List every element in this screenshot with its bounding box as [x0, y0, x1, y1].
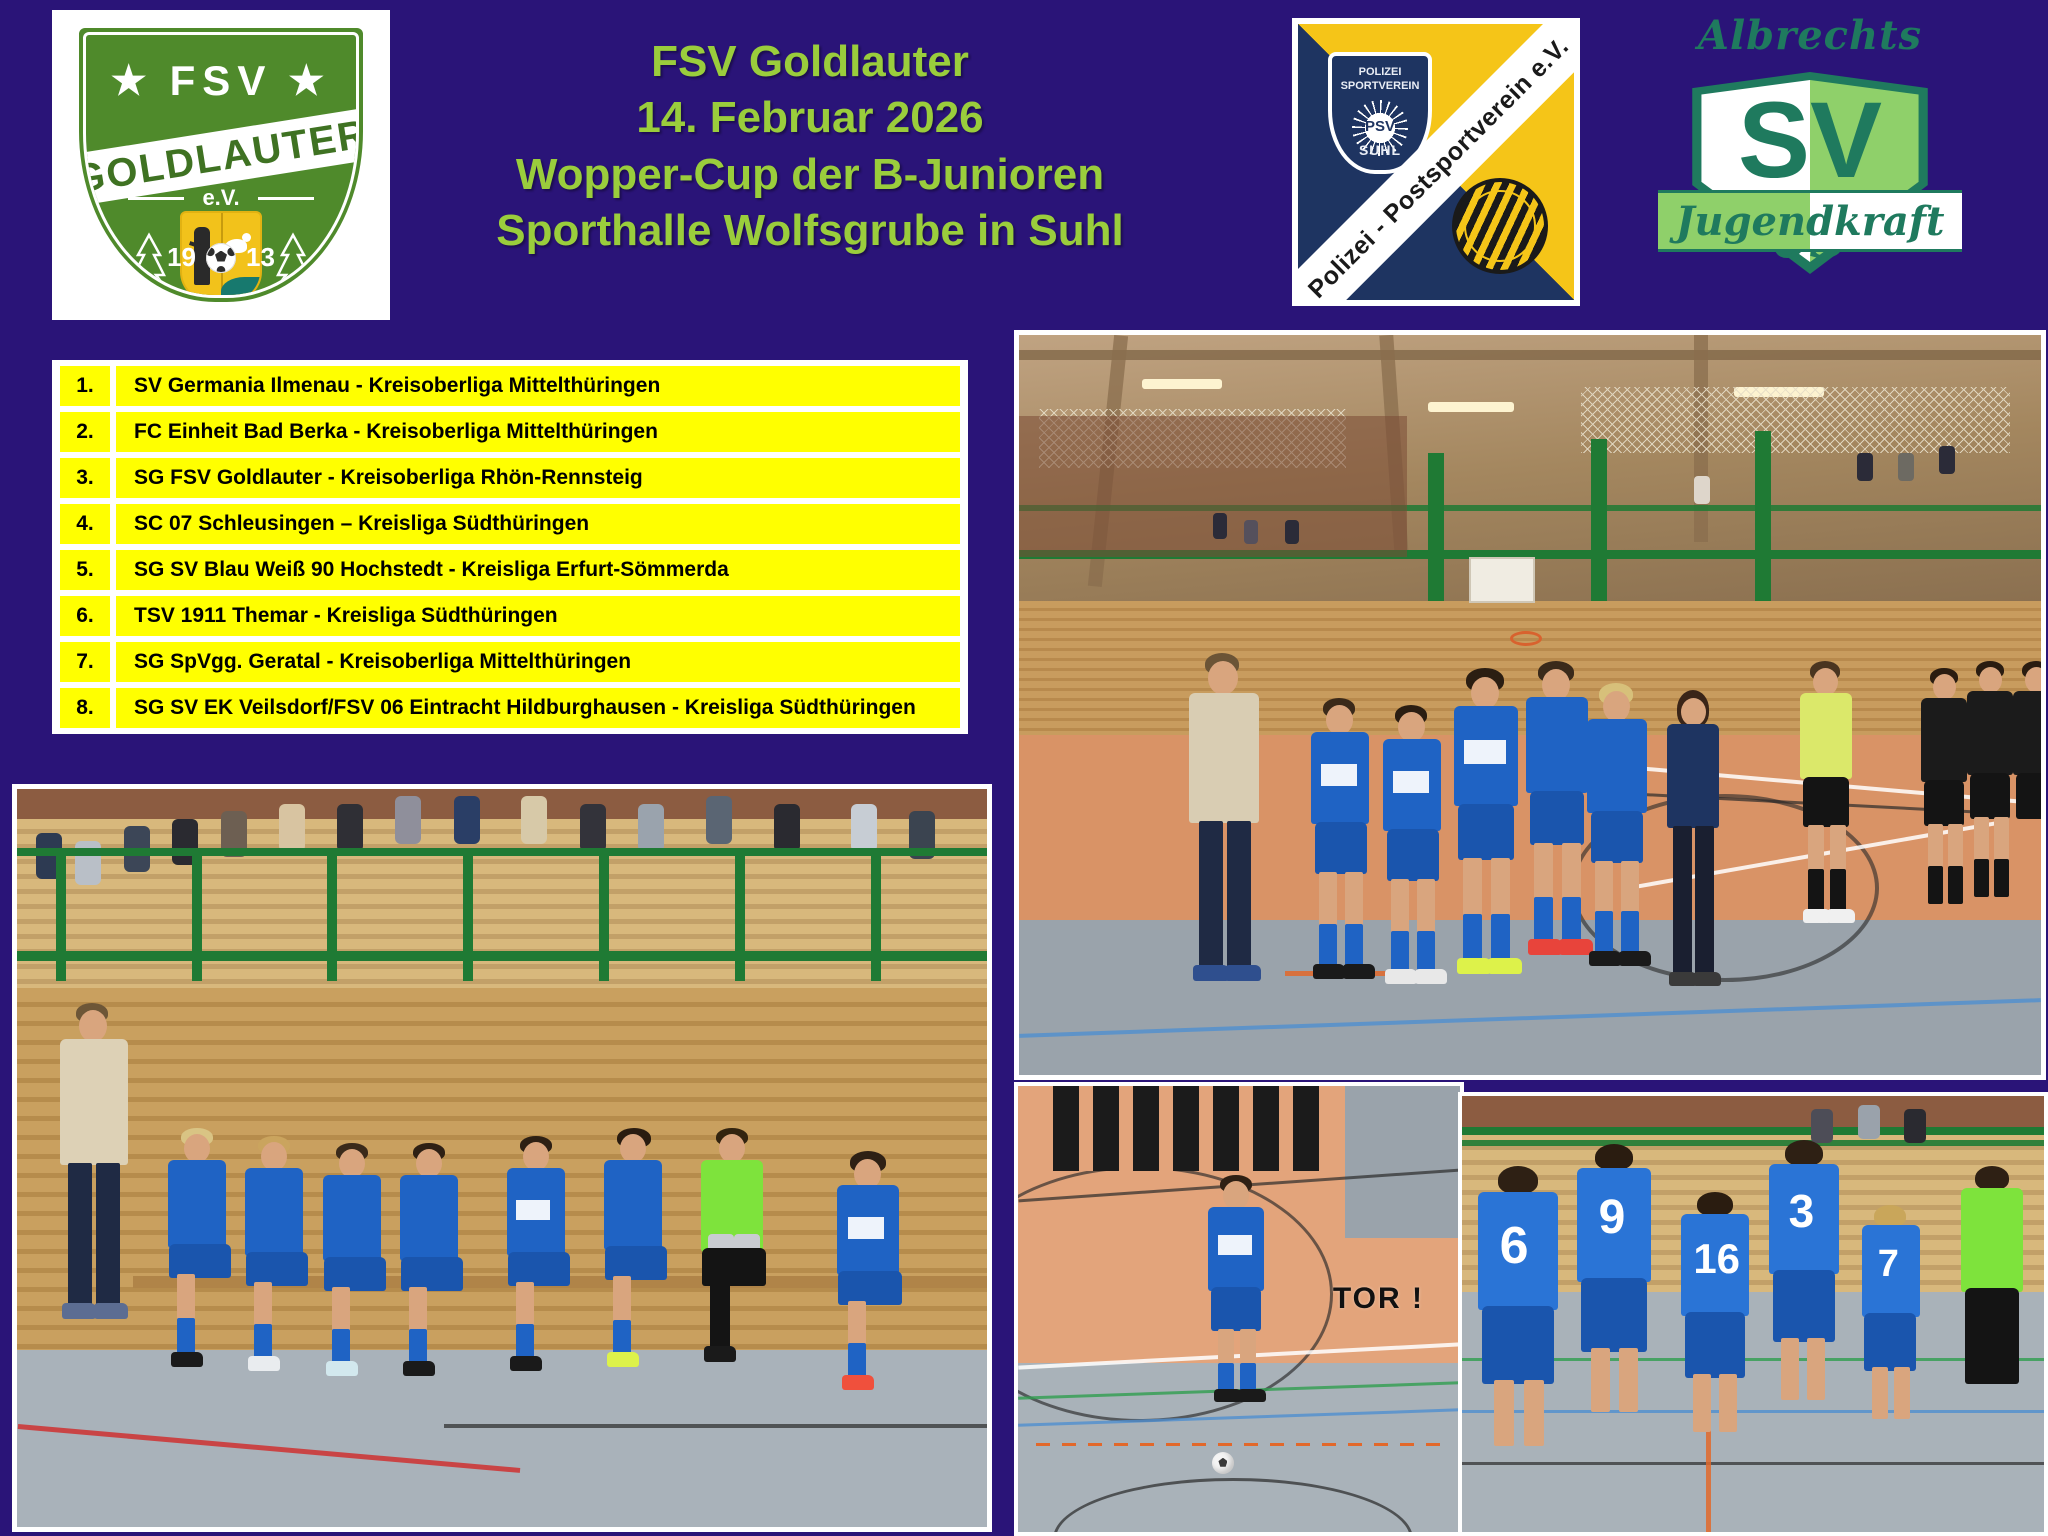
leg: [1491, 858, 1510, 918]
jk-town-name: Albrechts: [1660, 12, 1960, 59]
sv-jugendkraft-albrechts-logo: Albrechts SV 03 Jugendkraft: [1660, 0, 1960, 300]
leg: [1807, 1338, 1825, 1400]
leg: [1218, 1329, 1234, 1365]
photo-squad-on-bench: [12, 784, 992, 1532]
leg: [848, 1301, 866, 1345]
team-name: SV Germania Ilmenau - Kreisoberliga Mitt…: [116, 366, 960, 406]
shoe: [1488, 958, 1522, 974]
gym-scene-penalty: TOR !: [1018, 1086, 1460, 1532]
participating-teams-list: 1. SV Germania Ilmenau - Kreisoberliga M…: [52, 360, 968, 734]
goalkeeper: [696, 1128, 774, 1423]
shoe: [1619, 951, 1651, 966]
shorts: [1803, 777, 1849, 827]
head: [1326, 705, 1353, 735]
leg: [1830, 825, 1846, 873]
jersey: [604, 1160, 662, 1250]
leg: [1524, 1380, 1544, 1446]
fsv-ev-text: e.V.: [86, 185, 356, 211]
hair: [1595, 1144, 1633, 1170]
player-back: 7: [1858, 1205, 1924, 1510]
shorts: [1387, 829, 1439, 881]
shield-inner: ★ FSV ★ GOLDLAUTER e.V.: [83, 32, 359, 298]
leg: [68, 1163, 92, 1309]
head: [2025, 667, 2041, 693]
psv-inner: POLIZEI SPORTVEREIN PSV SUHL Polizei - P…: [1298, 24, 1574, 300]
support-pillar: [1591, 439, 1607, 617]
psv-badge-line1: POLIZEI: [1332, 66, 1428, 78]
leg: [1391, 879, 1409, 935]
court-dashed-line: [1036, 1443, 1443, 1446]
safety-net: [1581, 387, 2010, 454]
shoe: [607, 1352, 639, 1367]
head: [1223, 1181, 1249, 1210]
railing-post: [463, 848, 473, 981]
head: [1542, 669, 1570, 701]
shoe: [248, 1356, 280, 1371]
spectator: [1694, 476, 1710, 504]
star-icon: ★: [288, 61, 331, 101]
team-row: 8. SG SV EK Veilsdorf/FSV 06 Eintracht H…: [60, 688, 960, 728]
shorts: [1970, 773, 2010, 819]
leg: [1319, 872, 1337, 928]
jk-shield: SV 03 Jugendkraft: [1682, 72, 1938, 274]
leg: [1345, 872, 1363, 928]
team-row: 3. SG FSV Goldlauter - Kreisoberliga Rhö…: [60, 458, 960, 498]
year-prefix: 19: [167, 242, 196, 273]
sock: [1319, 924, 1337, 968]
hall-light: [1428, 402, 1514, 412]
spectator: [1939, 446, 1955, 474]
football-icon: [206, 243, 236, 273]
team-row: 5. SG SV Blau Weiß 90 Hochstedt - Kreisl…: [60, 550, 960, 590]
leg: [710, 1280, 730, 1352]
shoe: [1415, 969, 1447, 984]
shorts: [1924, 780, 1964, 826]
spectator: [1904, 1109, 1926, 1143]
postsportverein-emblem-icon: [1452, 178, 1548, 274]
team-rank: 7.: [60, 642, 110, 682]
leg: [1872, 1367, 1888, 1419]
team-rank: 5.: [60, 550, 110, 590]
goalkeeper-jersey: [1961, 1188, 2023, 1292]
shorts: [2016, 773, 2041, 819]
fsv-top-row: ★ FSV ★: [86, 57, 356, 105]
sock: [1994, 859, 2009, 897]
divider-left: [128, 197, 184, 200]
leg: [1994, 817, 2009, 861]
leg: [1621, 861, 1639, 915]
spectator: [851, 804, 877, 852]
sock: [1491, 914, 1510, 960]
team-rank: 6.: [60, 596, 110, 636]
sock: [1463, 914, 1482, 960]
green-railing: [1462, 1140, 2044, 1146]
sock: [1417, 931, 1435, 973]
leg: [1693, 1374, 1711, 1432]
ceiling-beam: [1019, 350, 2041, 360]
head: [1398, 712, 1425, 742]
jk-initials: SV: [1682, 86, 1938, 194]
sock: [1974, 859, 1989, 897]
leg: [1619, 1348, 1638, 1412]
leg: [177, 1274, 195, 1320]
shoe: [1238, 1389, 1266, 1402]
railing-post: [871, 848, 881, 981]
coach: [1183, 653, 1269, 1067]
leg: [1781, 1338, 1799, 1400]
fsv-goldlauter-logo: ★ FSV ★ GOLDLAUTER e.V.: [52, 10, 390, 320]
support-pillar: [1428, 453, 1444, 616]
spectator: [638, 804, 664, 852]
shoe: [1313, 964, 1345, 979]
spectator: [279, 804, 305, 852]
team-rank: 2.: [60, 412, 110, 452]
team-row: 1. SV Germania Ilmenau - Kreisoberliga M…: [60, 366, 960, 406]
support-pillar: [1755, 431, 1771, 616]
shorts: [1864, 1313, 1916, 1371]
head: [339, 1149, 365, 1178]
trousers: [1965, 1288, 2019, 1384]
sock: [1534, 897, 1553, 941]
title-line-3: Wopper-Cup der B-Junioren: [430, 147, 1190, 203]
head: [1979, 667, 2002, 693]
player-back: 16: [1677, 1192, 1753, 1515]
player-blue: [1448, 668, 1526, 1068]
gym-scene-lineup: [1019, 335, 2041, 1075]
railing-post: [56, 848, 66, 981]
player-seated: [395, 1143, 469, 1423]
hair: [1874, 1205, 1906, 1227]
gym-scene-bench: [17, 789, 987, 1527]
shoe: [1457, 958, 1491, 974]
shirt-number: 7: [1878, 1245, 1899, 1283]
leg: [332, 1287, 350, 1331]
shorts: [1482, 1306, 1554, 1384]
star-icon: ★: [111, 61, 154, 101]
leg: [1894, 1367, 1910, 1419]
head: [1208, 661, 1238, 695]
sock: [516, 1324, 534, 1360]
hoodie: [60, 1039, 128, 1165]
team-row: 2. FC Einheit Bad Berka - Kreisoberliga …: [60, 412, 960, 452]
sponsor-logo: [1218, 1235, 1252, 1255]
leg: [1673, 826, 1692, 976]
photo-penalty-kick: TOR !: [1014, 1082, 1464, 1536]
railing-post: [599, 848, 609, 981]
shorts: [1773, 1270, 1835, 1342]
spectator: [395, 796, 421, 844]
head: [523, 1142, 549, 1171]
green-railing: [17, 848, 987, 856]
psv-monogram: PSV: [1365, 118, 1395, 135]
shorts: [1591, 811, 1643, 863]
jk-ribbon-text: Jugendkraft: [1676, 198, 1945, 245]
tor-caption: TOR !: [1333, 1282, 1424, 1316]
fsv-shield: ★ FSV ★ GOLDLAUTER e.V.: [75, 24, 367, 306]
head: [416, 1149, 442, 1178]
sock: [1345, 924, 1363, 968]
shorts: [605, 1246, 667, 1280]
shorts: [1211, 1287, 1261, 1331]
sponsor-logo: [1321, 764, 1357, 786]
team-name: FC Einheit Bad Berka - Kreisoberliga Mit…: [116, 412, 960, 452]
team-name: SG FSV Goldlauter - Kreisoberliga Rhön-R…: [116, 458, 960, 498]
team-row: 6. TSV 1911 Themar - Kreisliga Südthürin…: [60, 596, 960, 636]
hair: [1785, 1140, 1823, 1166]
goalkeeper: [1957, 1166, 2027, 1506]
fsv-abbreviation: FSV: [170, 57, 273, 105]
shorts: [1530, 791, 1584, 845]
leg: [409, 1287, 427, 1331]
leg: [1928, 824, 1943, 868]
leg: [1534, 843, 1553, 901]
jk-ribbon: Jugendkraft: [1658, 190, 1962, 252]
shoe: [1528, 939, 1562, 955]
hall-light: [1142, 379, 1222, 389]
head: [261, 1142, 287, 1171]
sponsor-logo: [848, 1217, 884, 1239]
spectator: [1898, 453, 1914, 481]
shoe: [1193, 965, 1229, 981]
penalty-taker: [1204, 1175, 1272, 1398]
sponsor-logo: [516, 1200, 550, 1220]
hair: [1975, 1166, 2009, 1190]
green-railing: [17, 951, 987, 961]
hoodie: [1189, 693, 1259, 823]
referee: [1796, 661, 1858, 1031]
basketball-backboard: [1469, 557, 1535, 603]
leg: [1695, 826, 1714, 976]
head: [79, 1010, 107, 1042]
player-seated: [318, 1143, 392, 1423]
shoe: [704, 1346, 736, 1362]
photo-players-numbers: 6 9 16: [1458, 1092, 2048, 1536]
spectator: [774, 804, 800, 852]
leg: [96, 1163, 120, 1309]
hill-shape: [221, 277, 260, 298]
shirt-number: 3: [1789, 1188, 1815, 1234]
player-seated: [240, 1136, 314, 1424]
head: [620, 1134, 646, 1163]
player-back: 6: [1474, 1166, 1562, 1515]
jersey: [245, 1168, 303, 1256]
sock: [1391, 931, 1409, 973]
shoe: [403, 1361, 435, 1376]
leg: [1417, 879, 1435, 935]
shoe: [62, 1303, 96, 1319]
head: [184, 1134, 210, 1163]
spectator: [1285, 520, 1299, 544]
team-row: 7. SG SpVgg. Geratal - Kreisoberliga Mit…: [60, 642, 960, 682]
shoe: [1827, 909, 1855, 923]
sock: [177, 1318, 195, 1356]
railing-post: [327, 848, 337, 981]
team-rank: 4.: [60, 504, 110, 544]
railing-post: [192, 848, 202, 981]
team-name: TSV 1911 Themar - Kreisliga Südthüringen: [116, 596, 960, 636]
photo-team-lineup: [1014, 330, 2046, 1080]
leg: [1494, 1380, 1514, 1446]
player-black: [2010, 661, 2041, 1001]
green-railing: [1462, 1127, 2044, 1135]
team-name: SG SpVgg. Geratal - Kreisoberliga Mittel…: [116, 642, 960, 682]
head: [719, 1134, 745, 1163]
leg: [1719, 1374, 1737, 1432]
jersey: [1587, 719, 1647, 813]
leg: [516, 1282, 534, 1326]
shirt-number: 6: [1500, 1220, 1529, 1272]
team-name: SG SV EK Veilsdorf/FSV 06 Eintracht Hild…: [116, 688, 960, 728]
spectator: [1857, 453, 1873, 481]
shorts: [838, 1271, 902, 1305]
hair: [1498, 1166, 1538, 1194]
shorts: [508, 1252, 570, 1286]
shorts: [324, 1257, 386, 1291]
hair: [1697, 1192, 1733, 1216]
leg: [1808, 825, 1824, 873]
sponsor-logo: [1464, 740, 1506, 764]
shoe: [326, 1361, 358, 1376]
referee-jersey: [1800, 693, 1852, 779]
coach: [56, 1003, 136, 1387]
shorts: [1458, 804, 1514, 860]
sock: [1595, 911, 1613, 955]
team-rank: 1.: [60, 366, 110, 406]
leg: [254, 1282, 272, 1326]
shoe: [1385, 969, 1417, 984]
jersey: [323, 1175, 381, 1261]
shoe: [842, 1375, 874, 1390]
sock: [1948, 866, 1963, 904]
player-seated: [502, 1136, 576, 1424]
spectator: [454, 796, 480, 844]
team-official: [1663, 690, 1725, 1045]
player-blue: [1377, 705, 1449, 1068]
leg: [613, 1276, 631, 1322]
team-name: SG SV Blau Weiß 90 Hochstedt - Kreisliga…: [116, 550, 960, 590]
player-blue: [1305, 698, 1377, 1068]
jersey: [2013, 691, 2041, 775]
shorts: [1581, 1278, 1647, 1352]
title-line-2: 14. Februar 2026: [430, 90, 1190, 146]
player-blue: [1581, 683, 1655, 1053]
court-floor-grey: [1345, 1086, 1460, 1238]
sock: [848, 1343, 866, 1379]
poster-canvas: ★ FSV ★ GOLDLAUTER e.V.: [0, 0, 2048, 1536]
shoe: [94, 1303, 128, 1319]
player-seated: [163, 1128, 237, 1423]
spectator: [1858, 1105, 1880, 1139]
player-back: 9: [1573, 1144, 1655, 1510]
shorts: [1685, 1312, 1745, 1378]
sock: [1621, 911, 1639, 955]
year-suffix: 13: [246, 242, 275, 273]
sock: [1808, 869, 1824, 913]
divider-right: [258, 197, 314, 200]
head: [1933, 674, 1956, 700]
sponsor-logo: [1393, 771, 1429, 793]
spectator: [1244, 520, 1258, 544]
gym-scene-numbers: 6 9 16: [1462, 1096, 2044, 1532]
head: [1813, 668, 1838, 696]
shoe: [171, 1352, 203, 1367]
spectator: [1213, 513, 1227, 539]
leg: [1948, 824, 1963, 868]
shoe: [510, 1356, 542, 1371]
title-line-4: Sporthalle Wolfsgrube in Suhl: [430, 203, 1190, 259]
team-name: SC 07 Schleusingen – Kreisliga Südthürin…: [116, 504, 960, 544]
leg: [1591, 1348, 1610, 1412]
railing-post: [735, 848, 745, 981]
shirt-number: 9: [1599, 1194, 1626, 1242]
leg: [1227, 821, 1251, 971]
polizei-postsportverein-logo: POLIZEI SPORTVEREIN PSV SUHL Polizei - P…: [1292, 18, 1580, 306]
sock: [1562, 897, 1581, 941]
poster-title: FSV Goldlauter 14. Februar 2026 Wopper-C…: [430, 34, 1190, 259]
player-back: 3: [1765, 1140, 1843, 1506]
sock: [613, 1320, 631, 1356]
head: [1603, 691, 1630, 722]
sock: [332, 1329, 350, 1365]
jacket: [1667, 724, 1719, 828]
leg: [1974, 817, 1989, 861]
player-seated: [832, 1151, 908, 1446]
team-row: 4. SC 07 Schleusingen – Kreisliga Südthü…: [60, 504, 960, 544]
sock: [254, 1324, 272, 1360]
sock: [1928, 866, 1943, 904]
defensive-wall: [1053, 1086, 1318, 1171]
shoe: [1343, 964, 1375, 979]
leg: [1595, 861, 1613, 915]
shoe: [1693, 972, 1721, 986]
shorts: [1315, 822, 1367, 874]
head: [1681, 698, 1706, 726]
shorts: [169, 1244, 231, 1278]
sock: [409, 1329, 427, 1365]
head: [1471, 677, 1499, 709]
shorts: [246, 1252, 308, 1286]
shoe: [1225, 965, 1261, 981]
psv-badge-line2: SPORTVEREIN: [1332, 80, 1428, 92]
spectator: [1811, 1109, 1833, 1143]
jersey: [1967, 691, 2013, 775]
leg: [1463, 858, 1482, 918]
team-rank: 8.: [60, 688, 110, 728]
player-seated: [599, 1128, 673, 1423]
spectator: [337, 804, 363, 852]
leg: [1240, 1329, 1256, 1365]
shoe: [1589, 951, 1621, 966]
basketball-hoop: [1510, 631, 1542, 646]
fsv-founding-year: 19 13: [86, 242, 356, 273]
spectator: [580, 804, 606, 852]
shorts: [401, 1257, 463, 1291]
jersey: [168, 1160, 226, 1248]
title-line-1: FSV Goldlauter: [430, 34, 1190, 90]
jersey: [1921, 698, 1967, 782]
spectator: [521, 796, 547, 844]
sock: [1830, 869, 1846, 913]
team-rank: 3.: [60, 458, 110, 498]
spectator: [706, 796, 732, 844]
shirt-number: 16: [1693, 1238, 1740, 1280]
jersey: [400, 1175, 458, 1261]
jersey: [1526, 697, 1588, 793]
leg: [1562, 843, 1581, 901]
leg: [1199, 821, 1223, 971]
